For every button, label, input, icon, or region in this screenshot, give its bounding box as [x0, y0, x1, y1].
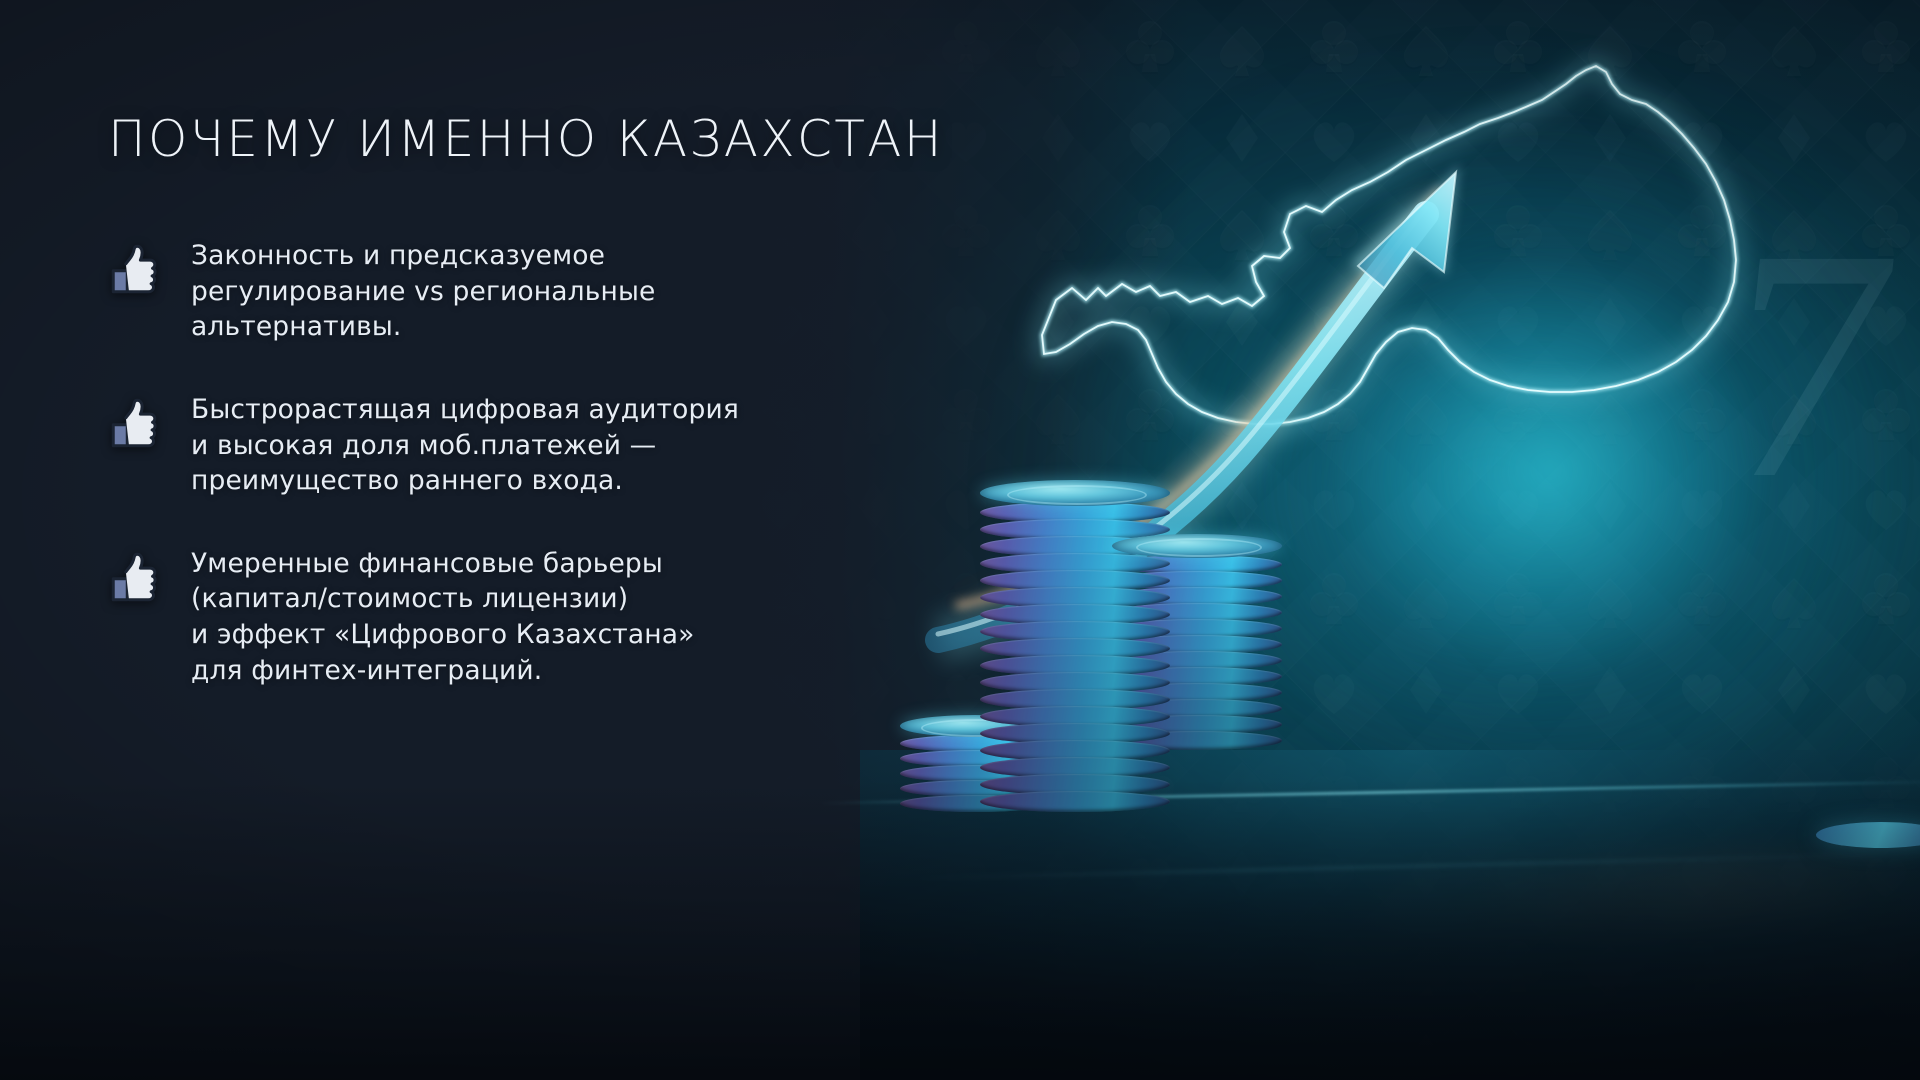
list-item: Умеренные финансовые барьеры (капитал/ст…: [108, 546, 868, 689]
coin: [980, 791, 1170, 812]
thumbs-up-icon: [108, 549, 164, 605]
coin-top-face: [1112, 534, 1282, 558]
list-item-label: Быстрорастящая цифровая аудитория и высо…: [191, 392, 739, 499]
thumbs-up-icon: [108, 395, 164, 451]
list-item: Законность и предсказуемое регулирование…: [108, 238, 868, 345]
page-title: ПОЧЕМУ ИМЕННО КАЗАХСТАН: [108, 112, 944, 167]
thumbs-up-icon: [108, 241, 164, 297]
list-item-label: Умеренные финансовые барьеры (капитал/ст…: [191, 546, 695, 689]
artwork-panel: 7: [860, 0, 1920, 1080]
slide-root: 7: [0, 0, 1920, 1080]
list-item-label: Законность и предсказуемое регулирование…: [191, 238, 655, 345]
coin-top-face: [980, 480, 1170, 506]
coin-stack-middle: [980, 485, 1170, 812]
bullet-list: Законность и предсказуемое регулирование…: [108, 238, 868, 688]
list-item: Быстрорастящая цифровая аудитория и высо…: [108, 392, 868, 499]
content-column: ПОЧЕМУ ИМЕННО КАЗАХСТАН Законность и пре…: [0, 0, 900, 1080]
